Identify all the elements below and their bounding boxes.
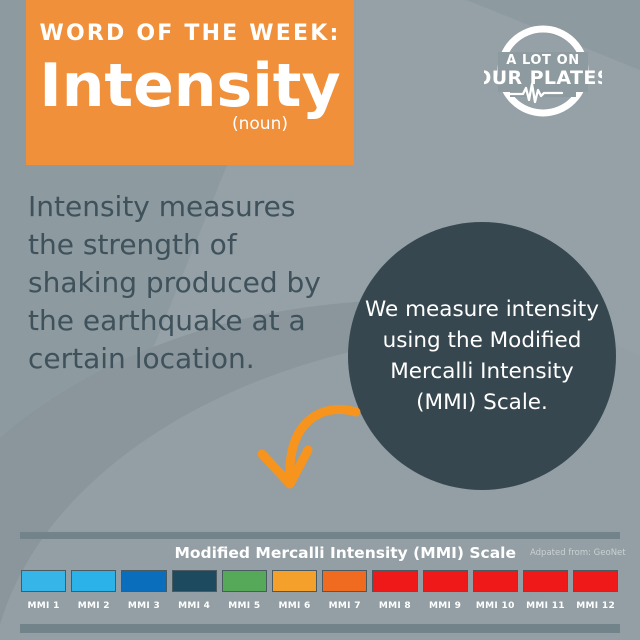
mmi-scale-item[interactable]: MMI 5 [222, 570, 267, 611]
mmi-swatch-label: MMI 7 [322, 601, 367, 611]
mmi-color-swatch[interactable] [573, 570, 618, 592]
mmi-swatch-label: MMI 8 [372, 601, 417, 611]
mmi-swatch-label: MMI 9 [423, 601, 468, 611]
mmi-swatch-label: MMI 3 [121, 601, 166, 611]
callout-text: We measure intensity using the Modified … [363, 294, 601, 418]
mmi-scale-item[interactable]: MMI 3 [121, 570, 166, 611]
mmi-swatch-label: MMI 12 [573, 601, 618, 611]
brand-logo-line2: OUR PLATES [484, 67, 602, 89]
brand-logo-line1: A LOT ON [506, 53, 580, 68]
mmi-scale-item[interactable]: MMI 11 [523, 570, 568, 611]
brand-logo-icon: A LOT ON OUR PLATES [484, 22, 602, 120]
infographic-canvas: WORD OF THE WEEK: Intensity (noun) A LOT… [0, 0, 640, 640]
mmi-scale-item[interactable]: MMI 8 [372, 570, 417, 611]
word-of-the-week-kicker: WORD OF THE WEEK: [26, 21, 354, 46]
mmi-swatch-label: MMI 6 [272, 601, 317, 611]
mmi-scale-item[interactable]: MMI 10 [473, 570, 518, 611]
mmi-swatch-label: MMI 10 [473, 601, 518, 611]
mmi-swatch-label: MMI 5 [222, 601, 267, 611]
scale-title: Modified Mercalli Intensity (MMI) Scale [0, 544, 516, 562]
mmi-color-swatch[interactable] [222, 570, 267, 592]
mmi-swatch-label: MMI 1 [21, 601, 66, 611]
divider-bottom [20, 624, 620, 633]
mmi-scale-item[interactable]: MMI 9 [423, 570, 468, 611]
word-of-the-week-box: WORD OF THE WEEK: Intensity (noun) [26, 0, 354, 165]
mmi-color-swatch[interactable] [322, 570, 367, 592]
divider-top [20, 532, 620, 539]
mmi-scale-item[interactable]: MMI 2 [71, 570, 116, 611]
mmi-swatch-label: MMI 11 [523, 601, 568, 611]
mmi-color-swatch[interactable] [473, 570, 518, 592]
mmi-color-swatch[interactable] [172, 570, 217, 592]
mmi-scale-item[interactable]: MMI 1 [21, 570, 66, 611]
mmi-color-swatch[interactable] [21, 570, 66, 592]
mmi-color-swatch[interactable] [71, 570, 116, 592]
mmi-scale-item[interactable]: MMI 12 [573, 570, 618, 611]
word-of-the-week-term: Intensity [26, 48, 354, 124]
mmi-swatch-label: MMI 4 [172, 601, 217, 611]
mmi-color-swatch[interactable] [372, 570, 417, 592]
mmi-color-swatch[interactable] [423, 570, 468, 592]
curved-arrow [244, 388, 374, 506]
curved-arrow-icon [244, 388, 374, 506]
mmi-swatch-label: MMI 2 [71, 601, 116, 611]
brand-logo: A LOT ON OUR PLATES [484, 22, 602, 120]
mmi-color-swatch[interactable] [272, 570, 317, 592]
callout-circle: We measure intensity using the Modified … [348, 222, 616, 490]
scale-header: Modified Mercalli Intensity (MMI) Scale … [0, 544, 640, 566]
mmi-scale-row: MMI 1MMI 2MMI 3MMI 4MMI 5MMI 6MMI 7MMI 8… [21, 570, 619, 611]
mmi-color-swatch[interactable] [523, 570, 568, 592]
mmi-scale-item[interactable]: MMI 4 [172, 570, 217, 611]
definition-paragraph: Intensity measures the strength of shaki… [28, 188, 338, 378]
mmi-color-swatch[interactable] [121, 570, 166, 592]
scale-credit: Adpated from: GeoNet [530, 548, 626, 558]
mmi-scale-item[interactable]: MMI 6 [272, 570, 317, 611]
mmi-scale-item[interactable]: MMI 7 [322, 570, 367, 611]
